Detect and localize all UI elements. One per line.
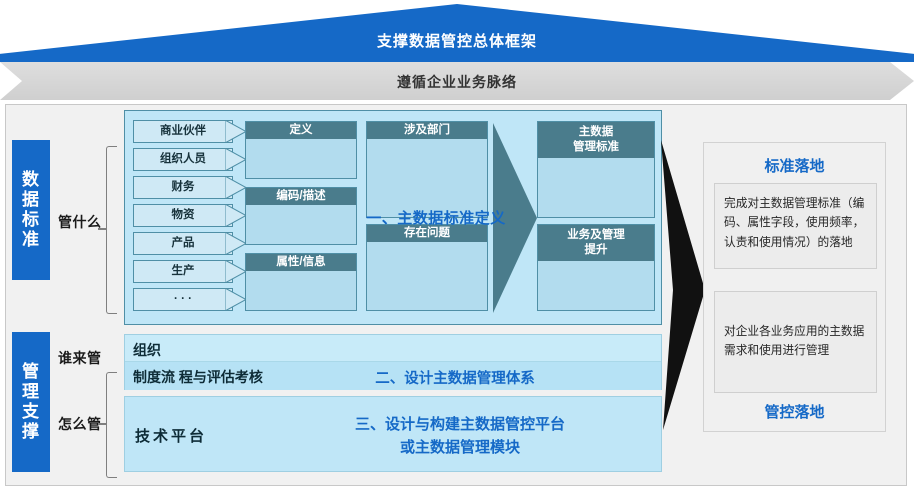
outcome-panel: 标准落地 完成对主数据管理标准（编码、属性字段，使用频率，认责和使用情况）的落地…	[703, 142, 886, 432]
domain-arrow-2[interactable]: 财务	[133, 176, 233, 199]
section3-title-line2: 或主数据管理模块	[265, 436, 655, 459]
section2-row2-label: 制度流 程与评估考核	[133, 367, 263, 387]
outcome-box-standard-text: 完成对主数据管理标准（编码、属性字段，使用频率，认责和使用情况）的落地	[715, 184, 876, 262]
section3-title: 三、设计与构建主数据管控平台 或主数据管理模块	[265, 413, 655, 460]
roof-title: 支撑数据管控总体框架	[0, 30, 914, 51]
outcome-title-control: 管控落地	[704, 401, 885, 422]
involved-departments-header: 涉及部门	[367, 122, 487, 139]
bracket-tick-what	[98, 228, 106, 230]
domain-arrow-head-3	[225, 204, 247, 227]
sidebar-tab-data-standard-label: 数据标准	[20, 170, 42, 250]
master-data-standard-box[interactable]: 主数据 管理标准	[537, 121, 655, 218]
domain-arrow-6[interactable]: · · ·	[133, 288, 233, 311]
domain-arrow-4[interactable]: 产品	[133, 232, 233, 255]
question-label-what: 管什么	[58, 212, 102, 232]
domain-arrow-head-4	[225, 232, 247, 255]
domain-arrow-5[interactable]: 生产	[133, 260, 233, 283]
involved-departments-box[interactable]: 涉及部门	[366, 121, 488, 218]
question-label-who: 谁来管	[58, 348, 102, 368]
existing-problems-box[interactable]: 存在问题	[366, 224, 488, 311]
definition-box[interactable]: 定义	[245, 121, 357, 179]
sidebar-tab-data-standard[interactable]: 数据标准	[12, 140, 50, 280]
big-right-arrow-icon	[661, 140, 705, 430]
business-improvement-header: 业务及管理 提升	[538, 225, 654, 261]
domain-arrow-head-6	[225, 288, 247, 311]
master-data-standard-line2: 管理标准	[538, 140, 654, 155]
slide-root: 支撑数据管控总体框架 遵循企业业务脉络 数据标准 管理支撑 管什么 谁来管 怎么…	[0, 0, 914, 491]
code-description-box-header: 编码/描述	[246, 188, 356, 205]
outcome-box-standard[interactable]: 完成对主数据管理标准（编码、属性字段，使用频率，认责和使用情况）的落地	[714, 183, 877, 269]
business-improvement-line1: 业务及管理	[538, 228, 654, 243]
section2-row1-label: 组织	[133, 340, 161, 360]
bracket-tick-how	[98, 423, 106, 425]
domain-arrow-1[interactable]: 组织人员	[133, 148, 233, 171]
outcome-box-control[interactable]: 对企业各业务应用的主数据需求和使用进行管理	[714, 291, 877, 393]
business-improvement-box[interactable]: 业务及管理 提升	[537, 224, 655, 311]
section3-title-line1: 三、设计与构建主数据管控平台	[265, 413, 655, 436]
master-data-standard-line1: 主数据	[538, 125, 654, 140]
section2-title: 二、设计主数据管理体系	[265, 367, 645, 388]
master-data-standard-header: 主数据 管理标准	[538, 122, 654, 158]
section2-row1	[125, 335, 661, 362]
business-improvement-line2: 提升	[538, 243, 654, 258]
section3-panel: 技术平台 三、设计与构建主数据管控平台 或主数据管理模块	[124, 396, 662, 472]
domain-arrow-3[interactable]: 物资	[133, 204, 233, 227]
section1-panel: 商业伙伴组织人员财务物资产品生产· · · 定义 编码/描述 属性/信息 涉及部…	[124, 110, 662, 325]
question-label-how: 怎么管	[58, 414, 102, 434]
bracket-how	[106, 372, 117, 478]
outcome-box-control-text: 对企业各业务应用的主数据需求和使用进行管理	[715, 292, 876, 371]
bracket-what	[106, 146, 117, 314]
domain-arrow-head-1	[225, 148, 247, 171]
attribute-info-box-header: 属性/信息	[246, 254, 356, 271]
outcome-title-standard: 标准落地	[704, 155, 885, 176]
domain-arrow-head-0	[225, 120, 247, 143]
section1-title: 一、主数据标准定义	[321, 207, 551, 228]
attribute-info-box[interactable]: 属性/信息	[245, 253, 357, 311]
definition-box-header: 定义	[246, 122, 356, 139]
sidebar-tab-management-support[interactable]: 管理支撑	[12, 332, 50, 472]
business-context-label: 遵循企业业务脉络	[0, 72, 914, 92]
sidebar-tab-management-support-label: 管理支撑	[20, 362, 42, 442]
domain-arrow-head-5	[225, 260, 247, 283]
domain-arrow-head-2	[225, 176, 247, 199]
section3-label: 技术平台	[135, 425, 207, 446]
section2-panel: 组织 制度流 程与评估考核 二、设计主数据管理体系	[124, 334, 662, 390]
domain-arrow-0[interactable]: 商业伙伴	[133, 120, 233, 143]
